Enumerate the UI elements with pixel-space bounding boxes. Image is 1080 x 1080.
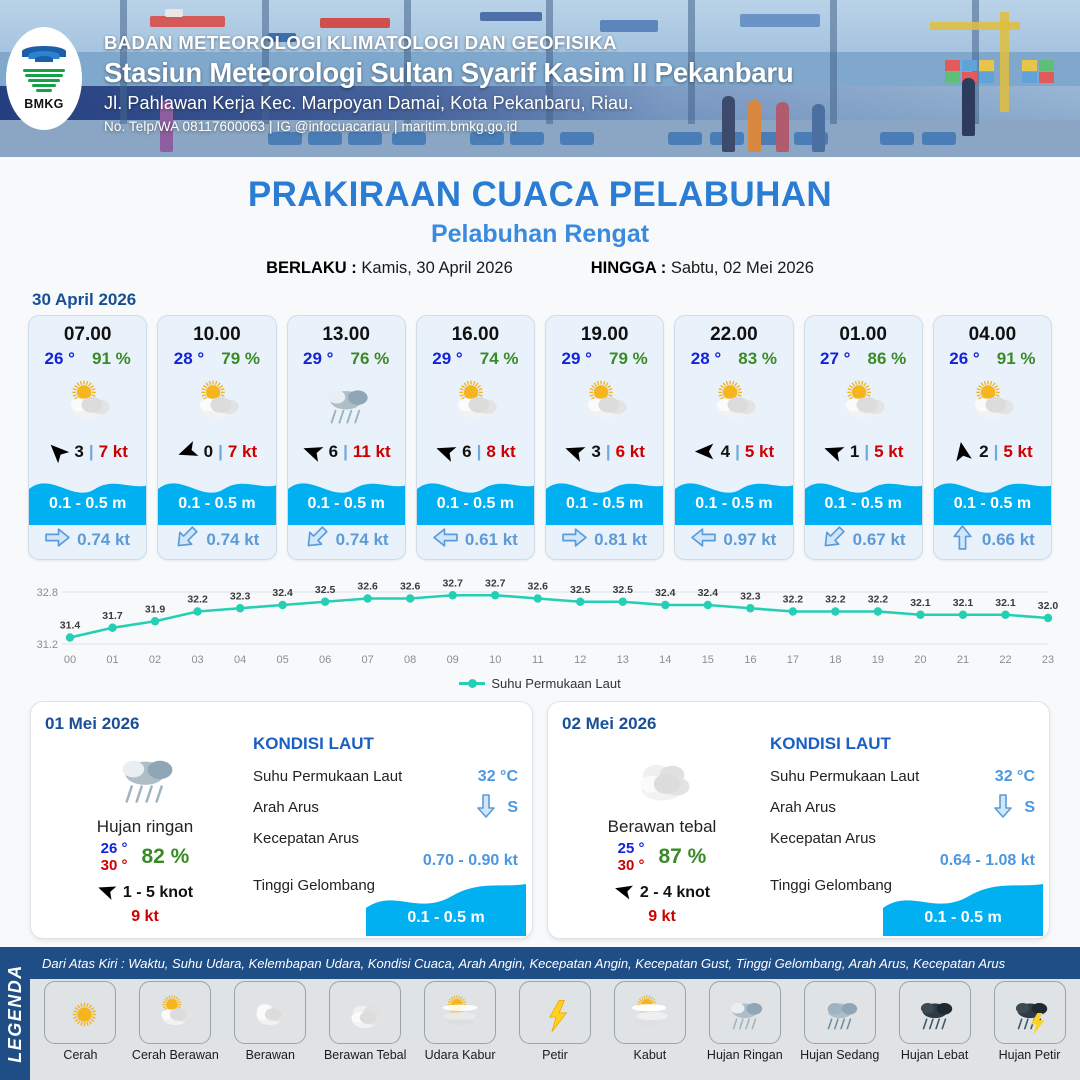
svg-text:32.6: 32.6 <box>528 581 549 593</box>
card-wind-row: 6 | 8 kt <box>417 435 534 469</box>
legend-icon-kabut <box>614 981 686 1044</box>
sea-value-wave: 0.1 - 0.5 m <box>366 909 526 927</box>
card-temp-hum-row: 27 ° 86 % <box>805 346 922 369</box>
wave-height-value: 0.1 - 0.5 m <box>934 495 1051 513</box>
wind-direction-arrow-icon <box>694 441 716 463</box>
svg-text:02: 02 <box>149 654 161 666</box>
legend-item-label: Hujan Ringan <box>707 1048 783 1062</box>
weather-icon-hujan-ringan <box>45 740 245 814</box>
legend-item-label: Hujan Sedang <box>800 1048 879 1062</box>
station-contact: No. Telp/WA 08117600063 | IG @infocuacar… <box>104 119 794 134</box>
wave-height-value: 0.1 - 0.5 m <box>805 495 922 513</box>
sea-row-current-dir: Arah Arus S <box>253 792 518 823</box>
card-current-row: 0.97 kt <box>675 525 792 559</box>
svg-text:05: 05 <box>276 654 288 666</box>
card-current-row: 0.61 kt <box>417 525 534 559</box>
daily-wind-range: 2 - 4 knot <box>640 884 710 902</box>
legend-item: Hujan Petir <box>985 981 1074 1062</box>
hourly-card[interactable]: 07.00 26 ° 91 % 3 | 7 kt 0.1 - 0.5 m 0.7… <box>28 315 147 560</box>
svg-text:32.6: 32.6 <box>400 581 421 593</box>
wave-height-band: 0.1 - 0.5 m <box>29 469 146 525</box>
legend-items: Cerah Cerah Berawan Berawan Berawan Teba… <box>30 981 1080 1062</box>
svg-text:31.2: 31.2 <box>37 639 58 651</box>
svg-text:32.4: 32.4 <box>655 587 676 599</box>
card-temp-hum-row: 29 ° 79 % <box>546 346 663 369</box>
hingga-value: Sabtu, 02 Mei 2026 <box>671 259 814 277</box>
wind-direction-value: 4 <box>721 442 730 462</box>
svg-text:32.2: 32.2 <box>868 594 889 606</box>
sea-row-current-speed: Kecepatan Arus <box>770 823 1035 854</box>
legend-item: Hujan Lebat <box>890 981 979 1062</box>
wind-direction-arrow-icon <box>823 441 845 463</box>
sea-row-sst: Suhu Permukaan Laut 32 °C <box>770 761 1035 792</box>
card-current-row: 0.74 kt <box>288 525 405 559</box>
bmkg-logo: BMKG <box>6 27 82 130</box>
svg-text:14: 14 <box>659 654 671 666</box>
logo-arcs <box>21 46 67 68</box>
legend-side-label: LEGENDA <box>5 964 26 1063</box>
legend-line-marker <box>459 682 485 685</box>
card-temperature: 29 ° <box>562 349 592 369</box>
sea-row-sst: Suhu Permukaan Laut 32 °C <box>253 761 518 792</box>
svg-text:32.3: 32.3 <box>740 590 761 602</box>
wind-direction-value: 6 <box>462 442 471 462</box>
legend-icon-cerah-berawan <box>139 981 211 1044</box>
card-wind-row: 0 | 7 kt <box>158 435 275 469</box>
current-direction-arrow-icon <box>45 525 70 555</box>
current-direction-arrow-icon <box>991 794 1015 822</box>
gust-speed: 5 kt <box>1003 442 1032 462</box>
sea-value-current-dir: S <box>1024 799 1035 817</box>
wave-height-value: 0.1 - 0.5 m <box>417 495 534 513</box>
daily-gust: 9 kt <box>45 908 245 926</box>
station-name: Stasiun Meteorologi Sultan Syarif Kasim … <box>104 57 794 89</box>
legend-icon-berawan-tebal <box>329 981 401 1044</box>
sea-label-sst: Suhu Permukaan Laut <box>253 768 402 785</box>
sea-label-current-dir: Arah Arus <box>770 799 836 816</box>
wave-height-value: 0.1 - 0.5 m <box>158 495 275 513</box>
validity-row: BERLAKU : Kamis, 30 April 2026 HINGGA : … <box>0 259 1080 278</box>
weather-icon-cerah-berawan <box>29 371 146 435</box>
daily-wave-band: 0.1 - 0.5 m <box>883 882 1043 936</box>
svg-text:04: 04 <box>234 654 246 666</box>
card-current-row: 0.81 kt <box>546 525 663 559</box>
svg-text:32.1: 32.1 <box>910 597 931 609</box>
sea-value-current-speed: 0.64 - 1.08 kt <box>770 852 1035 870</box>
card-temp-hum-row: 26 ° 91 % <box>29 346 146 369</box>
card-humidity: 83 % <box>738 349 777 369</box>
svg-text:32.1: 32.1 <box>953 597 974 609</box>
legend-icon-hujan-petir <box>994 981 1066 1044</box>
current-speed-value: 0.74 kt <box>77 530 130 550</box>
wind-direction-arrow-icon <box>47 441 69 463</box>
wind-direction-arrow-icon <box>564 441 586 463</box>
card-time: 19.00 <box>546 316 663 346</box>
legend-note: Dari Atas Kiri : Waktu, Suhu Udara, Kele… <box>30 956 1005 971</box>
card-temperature: 26 ° <box>949 349 979 369</box>
svg-text:00: 00 <box>64 654 76 666</box>
current-direction-arrow-icon <box>691 525 716 555</box>
card-time: 07.00 <box>29 316 146 346</box>
svg-text:10: 10 <box>489 654 501 666</box>
daily-temp-max: 30 ° <box>101 857 128 874</box>
legend-item: Berawan Tebal <box>321 981 410 1062</box>
current-direction-arrow-icon <box>174 525 199 555</box>
card-time: 13.00 <box>288 316 405 346</box>
card-humidity: 86 % <box>867 349 906 369</box>
legend-item: Kabut <box>605 981 694 1062</box>
daily-forecast-panel[interactable]: 01 Mei 2026 Hujan ringan 26 ° 30 ° 82 % … <box>30 701 533 939</box>
legend-label-sst: Suhu Permukaan Laut <box>491 676 620 691</box>
card-current-row: 0.74 kt <box>158 525 275 559</box>
legend-note-bar: Dari Atas Kiri : Waktu, Suhu Udara, Kele… <box>30 947 1080 979</box>
berlaku-label: BERLAKU : <box>266 259 357 277</box>
sea-label-wave: Tinggi Gelombang <box>770 877 892 894</box>
weather-icon-cerah-berawan <box>934 371 1051 435</box>
sea-row-current-speed: Kecepatan Arus <box>253 823 518 854</box>
svg-text:15: 15 <box>702 654 714 666</box>
svg-text:32.4: 32.4 <box>698 587 719 599</box>
svg-text:31.7: 31.7 <box>102 610 123 622</box>
card-temp-hum-row: 26 ° 91 % <box>934 346 1051 369</box>
legend-item: Udara Kabur <box>416 981 505 1062</box>
svg-text:03: 03 <box>191 654 203 666</box>
sea-condition-title: KONDISI LAUT <box>770 734 1035 754</box>
hingga-label: HINGGA : <box>591 259 666 277</box>
weather-icon-cerah-berawan <box>417 371 534 435</box>
sea-condition-block: KONDISI LAUT Suhu Permukaan Laut 32 °C A… <box>253 734 518 901</box>
card-temperature: 27 ° <box>820 349 850 369</box>
gust-speed: 11 kt <box>353 442 391 462</box>
svg-text:20: 20 <box>914 654 926 666</box>
legend-item-label: Cerah <box>63 1048 97 1062</box>
card-temperature: 29 ° <box>432 349 462 369</box>
card-time: 22.00 <box>675 316 792 346</box>
weather-icon-cerah-berawan <box>805 371 922 435</box>
weather-icon-cerah-berawan <box>675 371 792 435</box>
sea-label-wave: Tinggi Gelombang <box>253 877 375 894</box>
card-temp-hum-row: 29 ° 76 % <box>288 346 405 369</box>
card-wind-row: 6 | 11 kt <box>288 435 405 469</box>
svg-text:23: 23 <box>1042 654 1054 666</box>
svg-text:13: 13 <box>617 654 629 666</box>
legend-item-label: Petir <box>542 1048 568 1062</box>
wind-direction-value: 6 <box>329 442 338 462</box>
sea-value-current-speed: 0.70 - 0.90 kt <box>253 852 518 870</box>
wind-direction-arrow-icon <box>614 881 633 905</box>
legend-icon-berawan <box>234 981 306 1044</box>
daily-forecast-panel[interactable]: 02 Mei 2026 Berawan tebal 25 ° 30 ° 87 %… <box>547 701 1050 939</box>
legend-item-label: Berawan Tebal <box>324 1048 406 1062</box>
svg-text:31.9: 31.9 <box>145 603 166 615</box>
legend-icon-hujan-ringan <box>709 981 781 1044</box>
daily-temp-min: 26 ° <box>101 840 128 857</box>
wind-direction-arrow-icon <box>302 441 324 463</box>
gust-speed: 5 kt <box>874 442 903 462</box>
daily-temp-max: 30 ° <box>618 857 645 874</box>
current-direction-group: S <box>991 794 1035 822</box>
hourly-card[interactable]: 13.00 29 ° 76 % 6 | 11 kt 0.1 - 0.5 m 0.… <box>287 315 406 560</box>
card-humidity: 91 % <box>92 349 131 369</box>
wave-height-value: 0.1 - 0.5 m <box>29 495 146 513</box>
svg-text:32.5: 32.5 <box>570 584 591 596</box>
card-time: 10.00 <box>158 316 275 346</box>
hourly-card[interactable]: 10.00 28 ° 79 % 0 | 7 kt 0.1 - 0.5 m 0.7… <box>157 315 276 560</box>
legend-icon-hujan-sedang <box>804 981 876 1044</box>
svg-text:32.5: 32.5 <box>315 584 336 596</box>
svg-text:18: 18 <box>829 654 841 666</box>
card-wind-row: 3 | 7 kt <box>29 435 146 469</box>
svg-text:32.4: 32.4 <box>272 587 293 599</box>
legend-item-label: Kabut <box>634 1048 667 1062</box>
wave-height-band: 0.1 - 0.5 m <box>158 469 275 525</box>
legend-icon-hujan-lebat <box>899 981 971 1044</box>
hourly-card[interactable]: 16.00 29 ° 74 % 6 | 8 kt 0.1 - 0.5 m 0.6… <box>416 315 535 560</box>
current-speed-value: 0.74 kt <box>206 530 259 550</box>
daily-humidity: 82 % <box>141 845 189 869</box>
svg-text:32.5: 32.5 <box>613 584 634 596</box>
sea-condition-block: KONDISI LAUT Suhu Permukaan Laut 32 °C A… <box>770 734 1035 901</box>
wind-direction-value: 3 <box>591 442 600 462</box>
svg-text:21: 21 <box>957 654 969 666</box>
card-current-row: 0.66 kt <box>934 525 1051 559</box>
wave-height-band: 0.1 - 0.5 m <box>546 469 663 525</box>
daily-wind-range: 1 - 5 knot <box>123 884 193 902</box>
current-speed-value: 0.67 kt <box>853 530 906 550</box>
daily-wind-row: 1 - 5 knot <box>45 881 245 905</box>
gust-speed: 7 kt <box>99 442 128 462</box>
separator: | <box>735 442 740 462</box>
legend-item-label: Hujan Petir <box>999 1048 1061 1062</box>
wave-height-value: 0.1 - 0.5 m <box>288 495 405 513</box>
legend-item-label: Berawan <box>246 1048 295 1062</box>
card-humidity: 91 % <box>997 349 1036 369</box>
gust-speed: 8 kt <box>486 442 515 462</box>
wind-direction-value: 3 <box>74 442 83 462</box>
svg-text:17: 17 <box>787 654 799 666</box>
wave-height-band: 0.1 - 0.5 m <box>417 469 534 525</box>
card-wind-row: 2 | 5 kt <box>934 435 1051 469</box>
sea-value-current-dir: S <box>507 799 518 817</box>
current-speed-value: 0.66 kt <box>982 530 1035 550</box>
infographic-page: BMKG BADAN METEOROLOGI KLIMATOLOGI DAN G… <box>0 0 1080 1080</box>
hourly-date-label: 30 April 2026 <box>32 290 1080 310</box>
card-time: 01.00 <box>805 316 922 346</box>
page-title: PRAKIRAAN CUACA PELABUHAN <box>0 175 1080 215</box>
wave-height-band: 0.1 - 0.5 m <box>675 469 792 525</box>
legend-icon-petir <box>519 981 591 1044</box>
legend-item: Berawan <box>226 981 315 1062</box>
card-wind-row: 3 | 6 kt <box>546 435 663 469</box>
gust-speed: 5 kt <box>745 442 774 462</box>
legend-icon-udara-kabur <box>424 981 496 1044</box>
separator: | <box>994 442 999 462</box>
card-temp-hum-row: 29 ° 74 % <box>417 346 534 369</box>
current-direction-arrow-icon <box>562 525 587 555</box>
wind-direction-value: 0 <box>204 442 213 462</box>
weather-icon-berawan-tebal <box>562 740 762 814</box>
daily-humidity: 87 % <box>658 845 706 869</box>
daily-date: 02 Mei 2026 <box>562 714 1035 734</box>
wind-direction-arrow-icon <box>435 441 457 463</box>
card-humidity: 79 % <box>609 349 648 369</box>
card-wind-row: 4 | 5 kt <box>675 435 792 469</box>
separator: | <box>606 442 611 462</box>
card-humidity: 79 % <box>221 349 260 369</box>
current-direction-arrow-icon <box>950 525 975 555</box>
legend-section: LEGENDA Dari Atas Kiri : Waktu, Suhu Uda… <box>0 947 1080 1080</box>
current-direction-arrow-icon <box>433 525 458 555</box>
wind-direction-arrow-icon <box>952 441 974 463</box>
card-temp-hum-row: 28 ° 79 % <box>158 346 275 369</box>
legend-item: Cerah Berawan <box>131 981 220 1062</box>
agency-name: BADAN METEOROLOGI KLIMATOLOGI DAN GEOFIS… <box>104 32 794 54</box>
daily-date: 01 Mei 2026 <box>45 714 518 734</box>
station-address: Jl. Pahlawan Kerja Kec. Marpoyan Damai, … <box>104 93 794 114</box>
svg-text:09: 09 <box>447 654 459 666</box>
daily-left-block: Berawan tebal 25 ° 30 ° 87 % 2 - 4 knot … <box>562 740 762 926</box>
current-speed-value: 0.74 kt <box>336 530 389 550</box>
card-current-row: 0.74 kt <box>29 525 146 559</box>
card-humidity: 74 % <box>480 349 519 369</box>
card-current-row: 0.67 kt <box>805 525 922 559</box>
svg-text:32.2: 32.2 <box>825 594 846 606</box>
gust-speed: 6 kt <box>616 442 645 462</box>
svg-text:06: 06 <box>319 654 331 666</box>
legend-icon-cerah <box>44 981 116 1044</box>
daily-left-block: Hujan ringan 26 ° 30 ° 82 % 1 - 5 knot 9… <box>45 740 245 926</box>
separator: | <box>477 442 482 462</box>
card-temperature: 26 ° <box>45 349 75 369</box>
daily-gust: 9 kt <box>562 908 762 926</box>
svg-text:32.8: 32.8 <box>37 587 58 599</box>
svg-text:11: 11 <box>532 654 543 666</box>
hourly-card[interactable]: 04.00 26 ° 91 % 2 | 5 kt 0.1 - 0.5 m 0.6… <box>933 315 1052 560</box>
card-temperature: 28 ° <box>174 349 204 369</box>
legend-item: Hujan Sedang <box>795 981 884 1062</box>
current-direction-arrow-icon <box>474 794 498 822</box>
svg-text:32.2: 32.2 <box>187 594 208 606</box>
svg-text:32.6: 32.6 <box>357 581 378 593</box>
svg-text:32.7: 32.7 <box>442 577 463 589</box>
svg-text:22: 22 <box>999 654 1011 666</box>
current-direction-arrow-icon <box>304 525 329 555</box>
svg-text:32.7: 32.7 <box>485 577 506 589</box>
hourly-card[interactable]: 22.00 28 ° 83 % 4 | 5 kt 0.1 - 0.5 m 0.9… <box>674 315 793 560</box>
svg-text:19: 19 <box>872 654 884 666</box>
sea-label-current-speed: Kecepatan Arus <box>253 830 359 847</box>
separator: | <box>864 442 869 462</box>
legend-item-label: Hujan Lebat <box>901 1048 968 1062</box>
separator: | <box>89 442 94 462</box>
wave-height-value: 0.1 - 0.5 m <box>546 495 663 513</box>
hourly-forecast-row: 07.00 26 ° 91 % 3 | 7 kt 0.1 - 0.5 m 0.7… <box>0 315 1080 560</box>
sst-chart-svg: 32.831.231.40031.70131.90232.20332.30432… <box>18 570 1062 670</box>
weather-icon-cerah-berawan <box>158 371 275 435</box>
chart-legend: Suhu Permukaan Laut <box>0 676 1080 691</box>
weather-icon-hujan-ringan <box>288 371 405 435</box>
separator: | <box>218 442 223 462</box>
separator: | <box>343 442 348 462</box>
page-subtitle: Pelabuhan Rengat <box>0 220 1080 249</box>
daily-forecast-row: 01 Mei 2026 Hujan ringan 26 ° 30 ° 82 % … <box>0 691 1080 939</box>
sea-value-wave: 0.1 - 0.5 m <box>883 909 1043 927</box>
daily-condition: Hujan ringan <box>45 817 245 837</box>
sea-value-sst: 32 °C <box>995 768 1035 786</box>
daily-wind-row: 2 - 4 knot <box>562 881 762 905</box>
card-humidity: 76 % <box>350 349 389 369</box>
svg-text:07: 07 <box>362 654 374 666</box>
wave-height-value: 0.1 - 0.5 m <box>675 495 792 513</box>
daily-temp-min: 25 ° <box>618 840 645 857</box>
card-time: 04.00 <box>934 316 1051 346</box>
legend-item-label: Udara Kabur <box>425 1048 496 1062</box>
svg-text:16: 16 <box>744 654 756 666</box>
svg-text:32.1: 32.1 <box>995 597 1016 609</box>
svg-text:08: 08 <box>404 654 416 666</box>
card-time: 16.00 <box>417 316 534 346</box>
svg-text:12: 12 <box>574 654 586 666</box>
logo-waves <box>23 69 65 95</box>
sea-label-current-speed: Kecepatan Arus <box>770 830 876 847</box>
sea-condition-title: KONDISI LAUT <box>253 734 518 754</box>
wave-height-band: 0.1 - 0.5 m <box>288 469 405 525</box>
wind-direction-value: 2 <box>979 442 988 462</box>
daily-temperature-block: 26 ° 30 ° 82 % <box>45 840 245 875</box>
daily-wave-band: 0.1 - 0.5 m <box>366 882 526 936</box>
svg-text:31.4: 31.4 <box>60 620 81 632</box>
logo-label: BMKG <box>24 97 63 111</box>
wind-direction-arrow-icon <box>97 881 116 905</box>
wave-height-band: 0.1 - 0.5 m <box>934 469 1051 525</box>
legend-item: Petir <box>511 981 600 1062</box>
legend-item: Cerah <box>36 981 125 1062</box>
sea-label-sst: Suhu Permukaan Laut <box>770 768 919 785</box>
page-header: BMKG BADAN METEOROLOGI KLIMATOLOGI DAN G… <box>0 0 1080 157</box>
svg-text:32.2: 32.2 <box>783 594 804 606</box>
current-speed-value: 0.81 kt <box>594 530 647 550</box>
sea-row-current-dir: Arah Arus S <box>770 792 1035 823</box>
sea-value-sst: 32 °C <box>478 768 518 786</box>
gust-speed: 7 kt <box>228 442 257 462</box>
weather-icon-cerah-berawan <box>546 371 663 435</box>
sst-chart: 32.831.231.40031.70131.90232.20332.30432… <box>18 570 1062 670</box>
header-text-block: BADAN METEOROLOGI KLIMATOLOGI DAN GEOFIS… <box>104 32 794 134</box>
legend-item-label: Cerah Berawan <box>132 1048 219 1062</box>
card-temperature: 29 ° <box>303 349 333 369</box>
legend-side-tab: LEGENDA <box>0 947 30 1080</box>
current-direction-group: S <box>474 794 518 822</box>
current-speed-value: 0.61 kt <box>465 530 518 550</box>
hourly-card[interactable]: 01.00 27 ° 86 % 1 | 5 kt 0.1 - 0.5 m 0.6… <box>804 315 923 560</box>
card-temp-hum-row: 28 ° 83 % <box>675 346 792 369</box>
current-speed-value: 0.97 kt <box>723 530 776 550</box>
berlaku-value: Kamis, 30 April 2026 <box>361 259 512 277</box>
daily-condition: Berawan tebal <box>562 817 762 837</box>
wave-height-band: 0.1 - 0.5 m <box>805 469 922 525</box>
sea-label-current-dir: Arah Arus <box>253 799 319 816</box>
current-direction-arrow-icon <box>821 525 846 555</box>
wind-direction-arrow-icon <box>177 441 199 463</box>
svg-text:32.0: 32.0 <box>1038 600 1059 612</box>
hourly-card[interactable]: 19.00 29 ° 79 % 3 | 6 kt 0.1 - 0.5 m 0.8… <box>545 315 664 560</box>
daily-temperature-block: 25 ° 30 ° 87 % <box>562 840 762 875</box>
wind-direction-value: 1 <box>850 442 859 462</box>
svg-text:01: 01 <box>106 654 118 666</box>
svg-text:32.3: 32.3 <box>230 590 251 602</box>
card-temperature: 28 ° <box>691 349 721 369</box>
legend-item: Hujan Ringan <box>700 981 789 1062</box>
